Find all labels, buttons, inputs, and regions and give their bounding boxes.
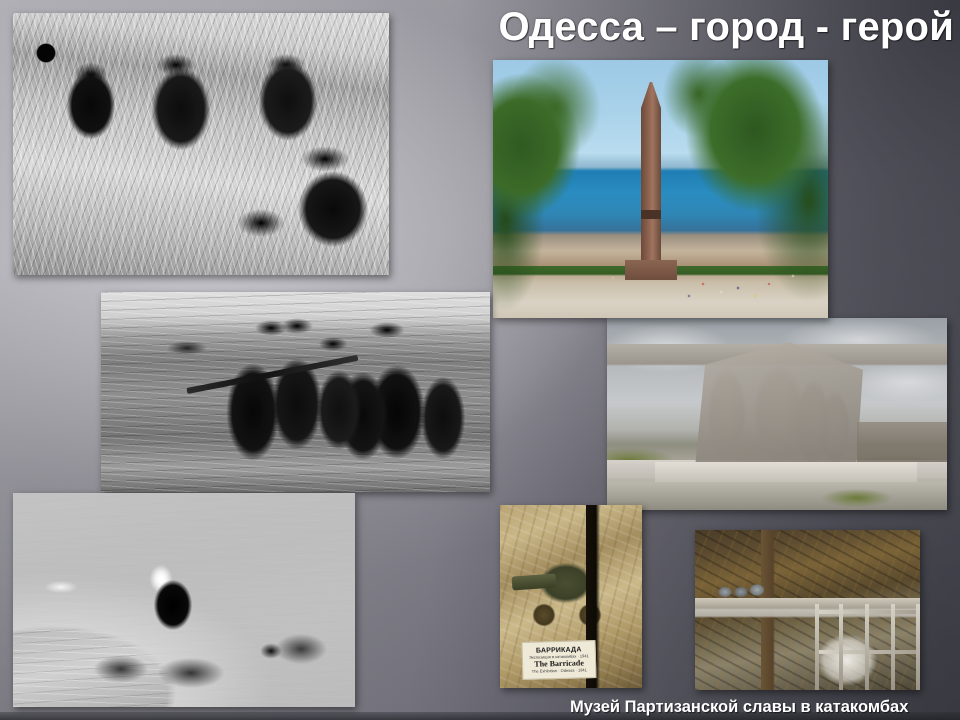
exhibit-sign-sub-en: The Exhibition · Odessa · 1941 bbox=[532, 667, 587, 673]
photo-soldiers-trench[interactable] bbox=[13, 13, 389, 275]
iron-bed-railing bbox=[815, 604, 920, 690]
page-title: Одесса – город - герой bbox=[406, 2, 954, 52]
photo-obelisk-alley-of-glory[interactable] bbox=[493, 60, 828, 318]
exhibit-sign: БАРРИКАДА Экспозиция в катакомбах · 1941… bbox=[522, 640, 597, 680]
photo-partisan-monument[interactable] bbox=[607, 318, 947, 510]
photo-shore-battle[interactable] bbox=[13, 493, 355, 707]
photo-sailors-on-deck[interactable] bbox=[101, 292, 490, 492]
photo-soldiers-trench-image bbox=[13, 13, 389, 275]
obelisk-base bbox=[625, 260, 677, 280]
presentation-slide: Одесса – город - герой БАРРИКАДА Экспози… bbox=[0, 0, 960, 720]
obelisk-inscription-band bbox=[641, 210, 661, 219]
photo-sailors-image bbox=[101, 292, 490, 492]
photo-shore-image bbox=[13, 493, 355, 707]
monument-back-wall bbox=[857, 422, 947, 462]
obelisk-shaft bbox=[641, 82, 661, 268]
photo-caption: Музей Партизанской славы в катакомбах bbox=[570, 696, 952, 718]
photo-cannon-catacombs[interactable]: БАРРИКАДА Экспозиция в катакомбах · 1941… bbox=[500, 505, 642, 688]
photo-catacomb-room[interactable] bbox=[695, 530, 920, 690]
monument-stone-block bbox=[695, 342, 863, 468]
monument-plinth bbox=[655, 462, 917, 482]
